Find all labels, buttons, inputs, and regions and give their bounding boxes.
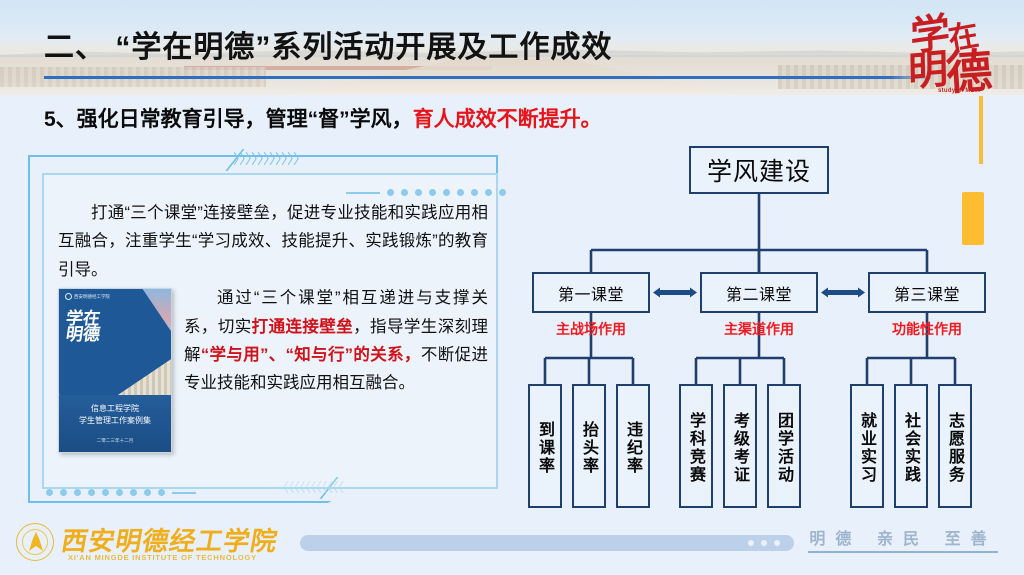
dot-decoration-bottom-left — [46, 489, 196, 499]
book-cover-image: 西安明德经工学院 学在 明德 信息工程学院 学生管理工作案例集 二零二三年十二月 — [58, 288, 172, 453]
slide-header: 二、 “学在明德”系列活动开展及工作成效 学 在 明 德 study in MD… — [0, 0, 1024, 95]
diagram-node-抬头率[interactable]: 抬头率 — [572, 384, 606, 508]
chevron-right-decoration: 〉〉〉〉〉〉〉〉〉〉〉 — [233, 149, 306, 169]
diagram-node-社会实践[interactable]: 社会实践 — [894, 384, 928, 508]
slide-footer: 西安明德经工学院 XI'AN MINGDE INSTITUTE OF TECHN… — [0, 513, 1024, 575]
progress-bar[interactable] — [300, 535, 794, 551]
title-underline — [44, 76, 934, 79]
diagram-node-到课率[interactable]: 到课率 — [528, 384, 562, 508]
diagram-node-志愿服务[interactable]: 志愿服务 — [938, 384, 972, 508]
book-calligraphy: 学在 明德 — [66, 311, 100, 343]
diagram-node-第一课堂[interactable]: 第一课堂 — [532, 272, 650, 313]
motto-underline — [808, 551, 998, 553]
diagram-role-label-第一课堂: 主战场作用 — [539, 319, 643, 339]
book-title: 信息工程学院 学生管理工作案例集 — [59, 403, 171, 426]
dot-decoration-top-right — [346, 189, 506, 199]
university-motto: 明德 亲民 至善 — [808, 525, 998, 553]
seal-char-4: 德 — [944, 34, 994, 95]
seal-subtitle: study in MDIT — [938, 88, 981, 94]
page-title: 二、 “学在明德”系列活动开展及工作成效 — [44, 22, 612, 66]
book-emblem: 西安明德经工学院 — [65, 293, 110, 301]
brand-seal-logo: 学 在 明 德 study in MDIT — [908, 4, 1006, 95]
diagram-node-就业实习[interactable]: 就业实习 — [850, 384, 884, 508]
diagram-node-团学活动[interactable]: 团学活动 — [767, 384, 801, 508]
panel-paragraph-1: 打通“三个课堂”连接壁垒，促进专业技能和实践应用相互融合，注重学生“学习成效、技… — [58, 199, 488, 284]
panel-body-text: 打通“三个课堂”连接壁垒，促进专业技能和实践应用相互融合，注重学生“学习成效、技… — [58, 199, 488, 455]
university-emblem-icon — [16, 523, 54, 561]
subtitle-highlight: 育人成效不断提升。 — [413, 108, 602, 131]
academic-atmosphere-tree-diagram: 学风建设第一课堂第二课堂第三课堂主战场作用到课率抬头率违纪率主渠道作用学科竞赛考… — [524, 146, 994, 514]
diagram-role-label-第三课堂: 功能性作用 — [875, 319, 979, 339]
diagram-node-考级考证[interactable]: 考级考证 — [723, 384, 757, 508]
diagram-role-label-第二课堂: 主渠道作用 — [707, 319, 811, 339]
flame-icon — [29, 532, 43, 551]
diagram-node-违纪率[interactable]: 违纪率 — [616, 384, 650, 508]
diagram-node-学风建设[interactable]: 学风建设 — [689, 146, 829, 194]
university-name-en: XI'AN MINGDE INSTITUTE OF TECHNOLOGY — [68, 553, 257, 562]
diagram-node-第三课堂[interactable]: 第三课堂 — [868, 272, 986, 313]
book-date: 二零二三年十二月 — [59, 437, 171, 445]
subtitle-plain: 5、强化日常教育引导，管理“督”学风， — [44, 108, 413, 131]
progress-dots — [748, 540, 780, 546]
text-panel: 〉〉〉〉〉〉〉〉〉〉〉 〈〈〈〈〈〈〈〈〈〈〈 打通“三个课堂”连接壁垒，促进专… — [28, 147, 512, 513]
section-subtitle: 5、强化日常教育引导，管理“督”学风，育人成效不断提升。 — [44, 103, 602, 133]
diagram-node-学科竞赛[interactable]: 学科竞赛 — [679, 384, 713, 508]
seal-char-3: 明 — [908, 36, 948, 95]
diagram-node-第二课堂[interactable]: 第二课堂 — [700, 272, 818, 313]
university-logo: 西安明德经工学院 XI'AN MINGDE INSTITUTE OF TECHN… — [16, 521, 286, 567]
